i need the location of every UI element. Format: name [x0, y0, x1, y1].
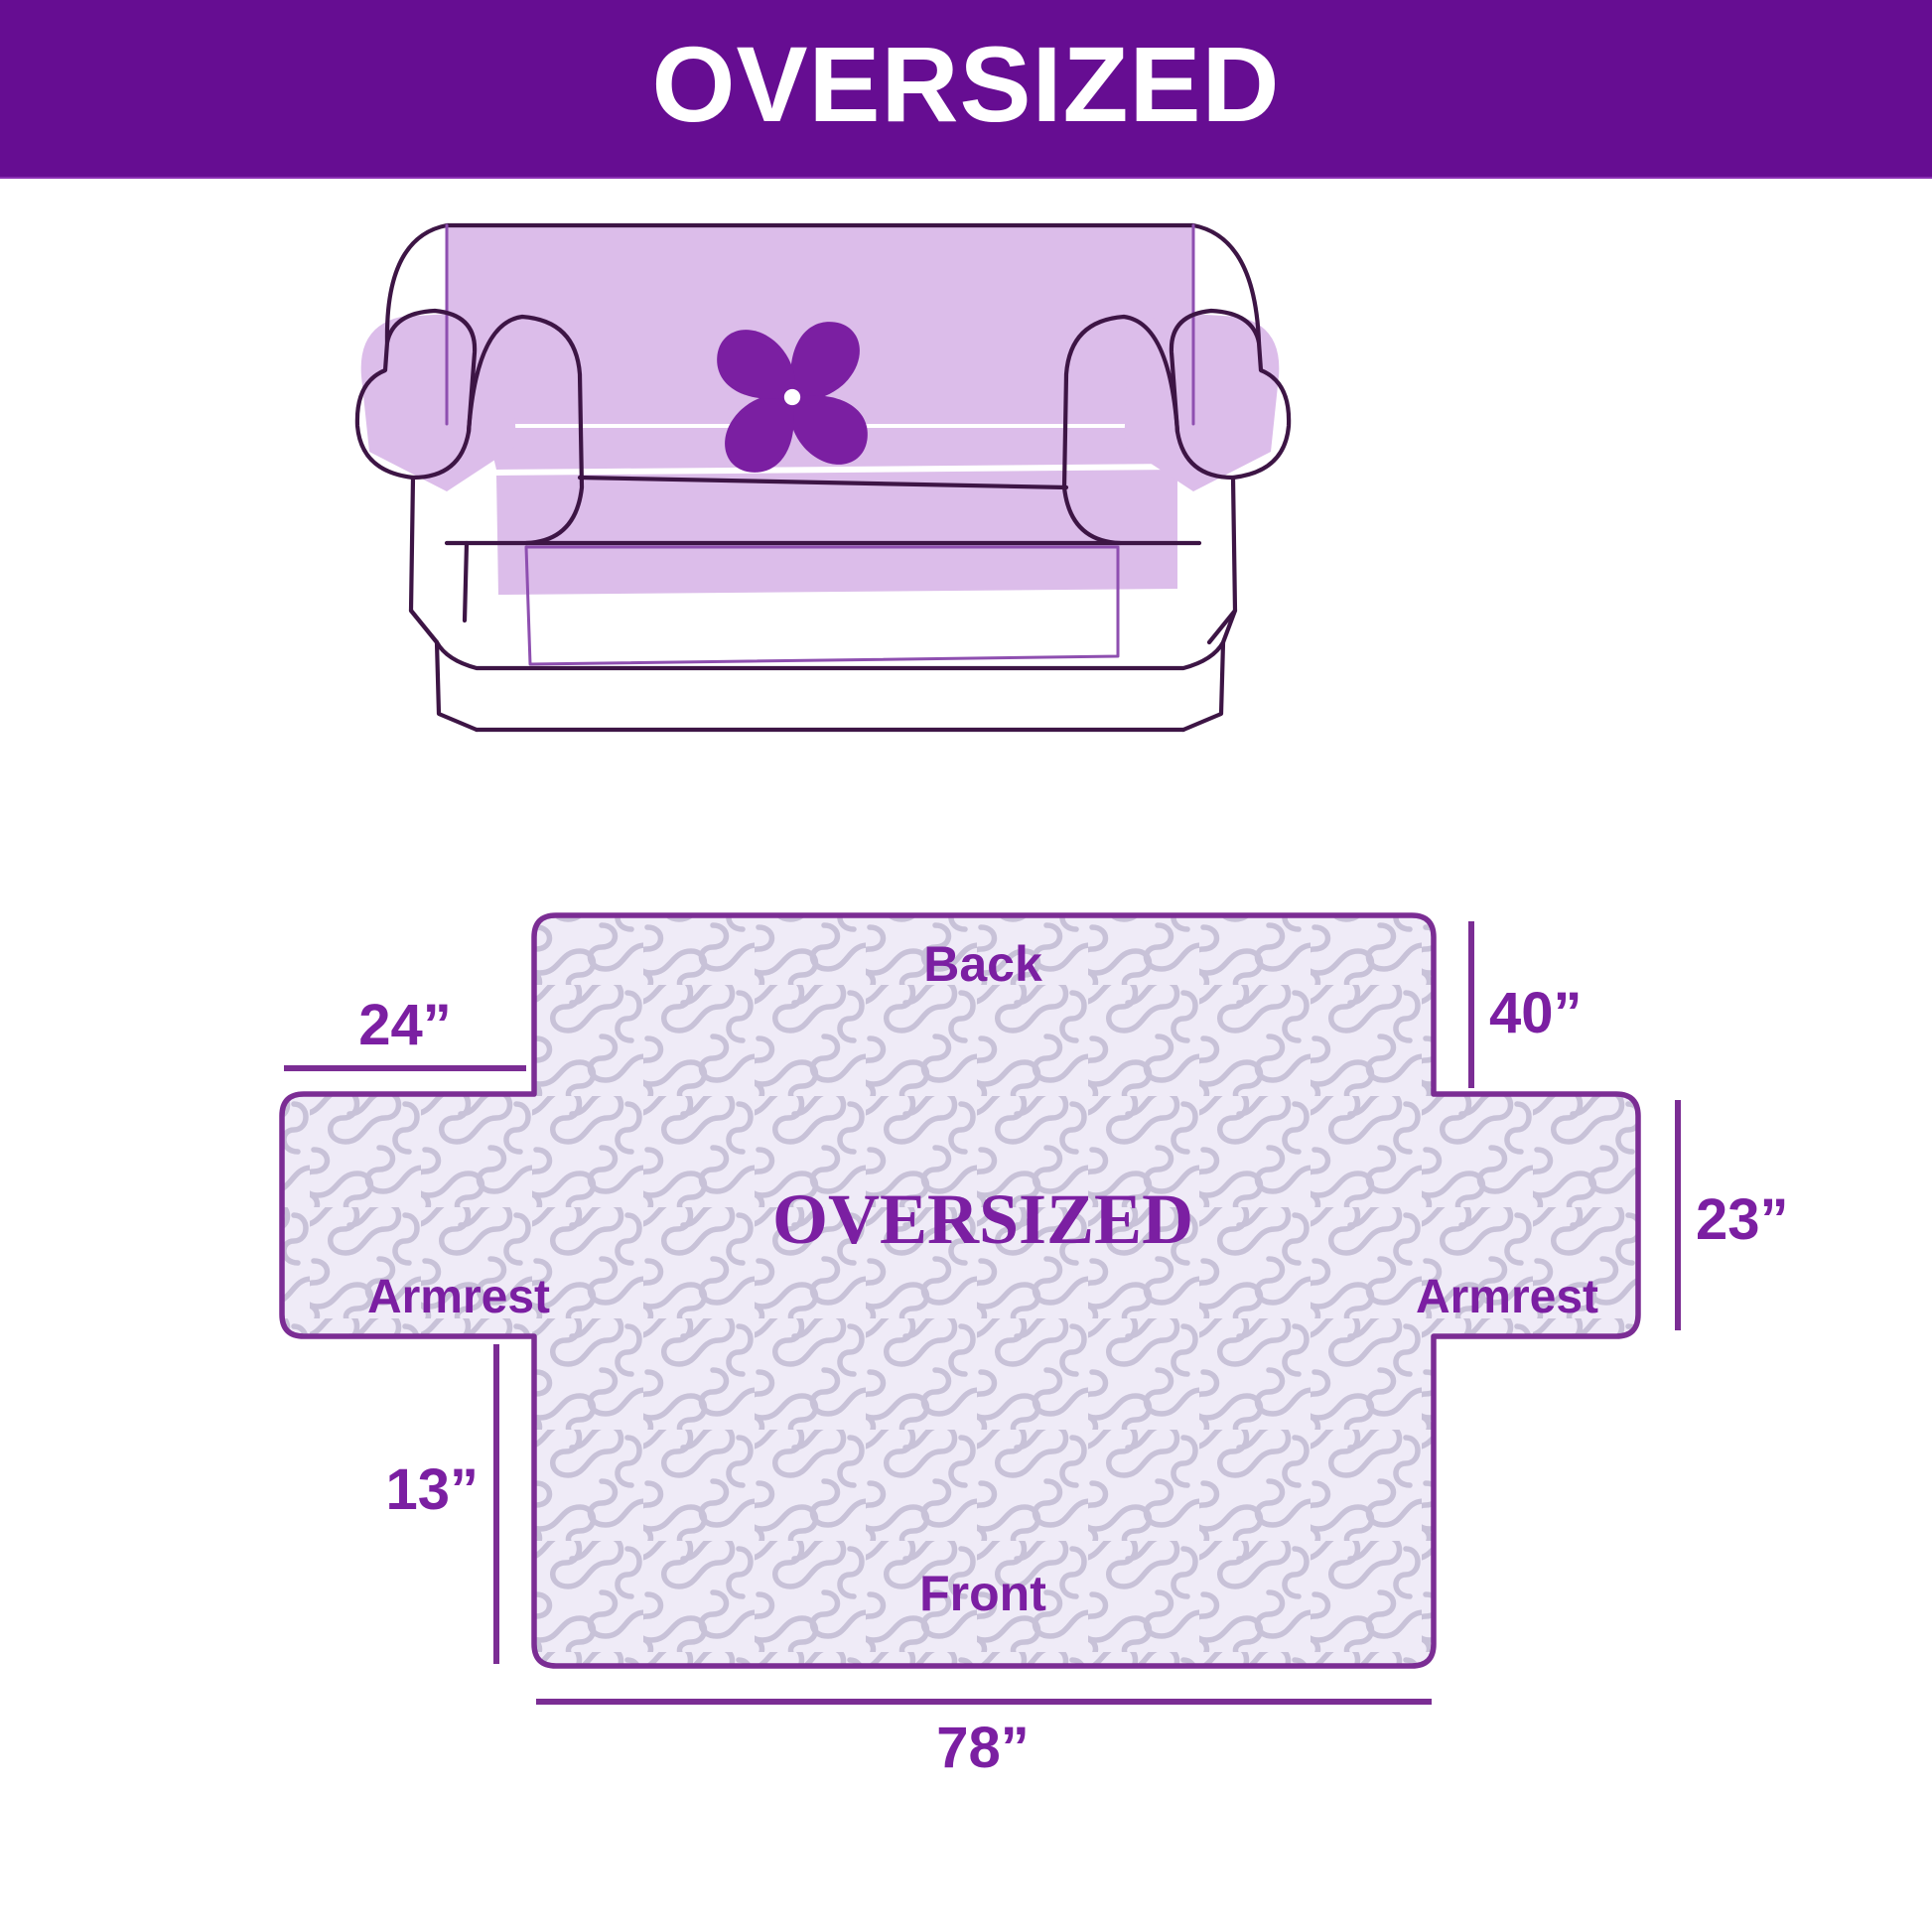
dimension-back-offset: 24”: [358, 993, 452, 1057]
label-front: Front: [919, 1566, 1046, 1621]
label-armrest-right: Armrest: [1416, 1271, 1598, 1323]
infographic-canvas: OVERSIZED .lav{fill:#DCBDEA;} .wht{fill:…: [0, 0, 1932, 1932]
header-banner: OVERSIZED: [0, 0, 1932, 177]
pinwheel-hub: [784, 389, 800, 405]
dimension-back-height: 40”: [1489, 981, 1583, 1045]
sofa-left-inner-drop: [465, 543, 467, 621]
label-armrest-left: Armrest: [367, 1271, 550, 1323]
dimension-total-width: 78”: [936, 1716, 1030, 1780]
sofa-front-skirt: [496, 470, 1177, 595]
sofa-svg: .lav{fill:#DCBDEA;} .wht{fill:#FFFFFF;} …: [328, 194, 1320, 690]
label-back: Back: [923, 936, 1042, 992]
sofa-illustration: .lav{fill:#DCBDEA;} .wht{fill:#FFFFFF;} …: [328, 194, 1320, 690]
label-center-oversized: OVERSIZED: [772, 1179, 1193, 1259]
dimension-armrest-depth: 23”: [1696, 1187, 1789, 1252]
size-diagram-svg: .panel{fill:url(#quilt);stroke:#7B2D94;s…: [199, 874, 1747, 1866]
dimension-front-offset: 13”: [385, 1457, 479, 1522]
page-title: OVERSIZED: [651, 31, 1280, 138]
size-diagram: .panel{fill:url(#quilt);stroke:#7B2D94;s…: [199, 874, 1747, 1866]
